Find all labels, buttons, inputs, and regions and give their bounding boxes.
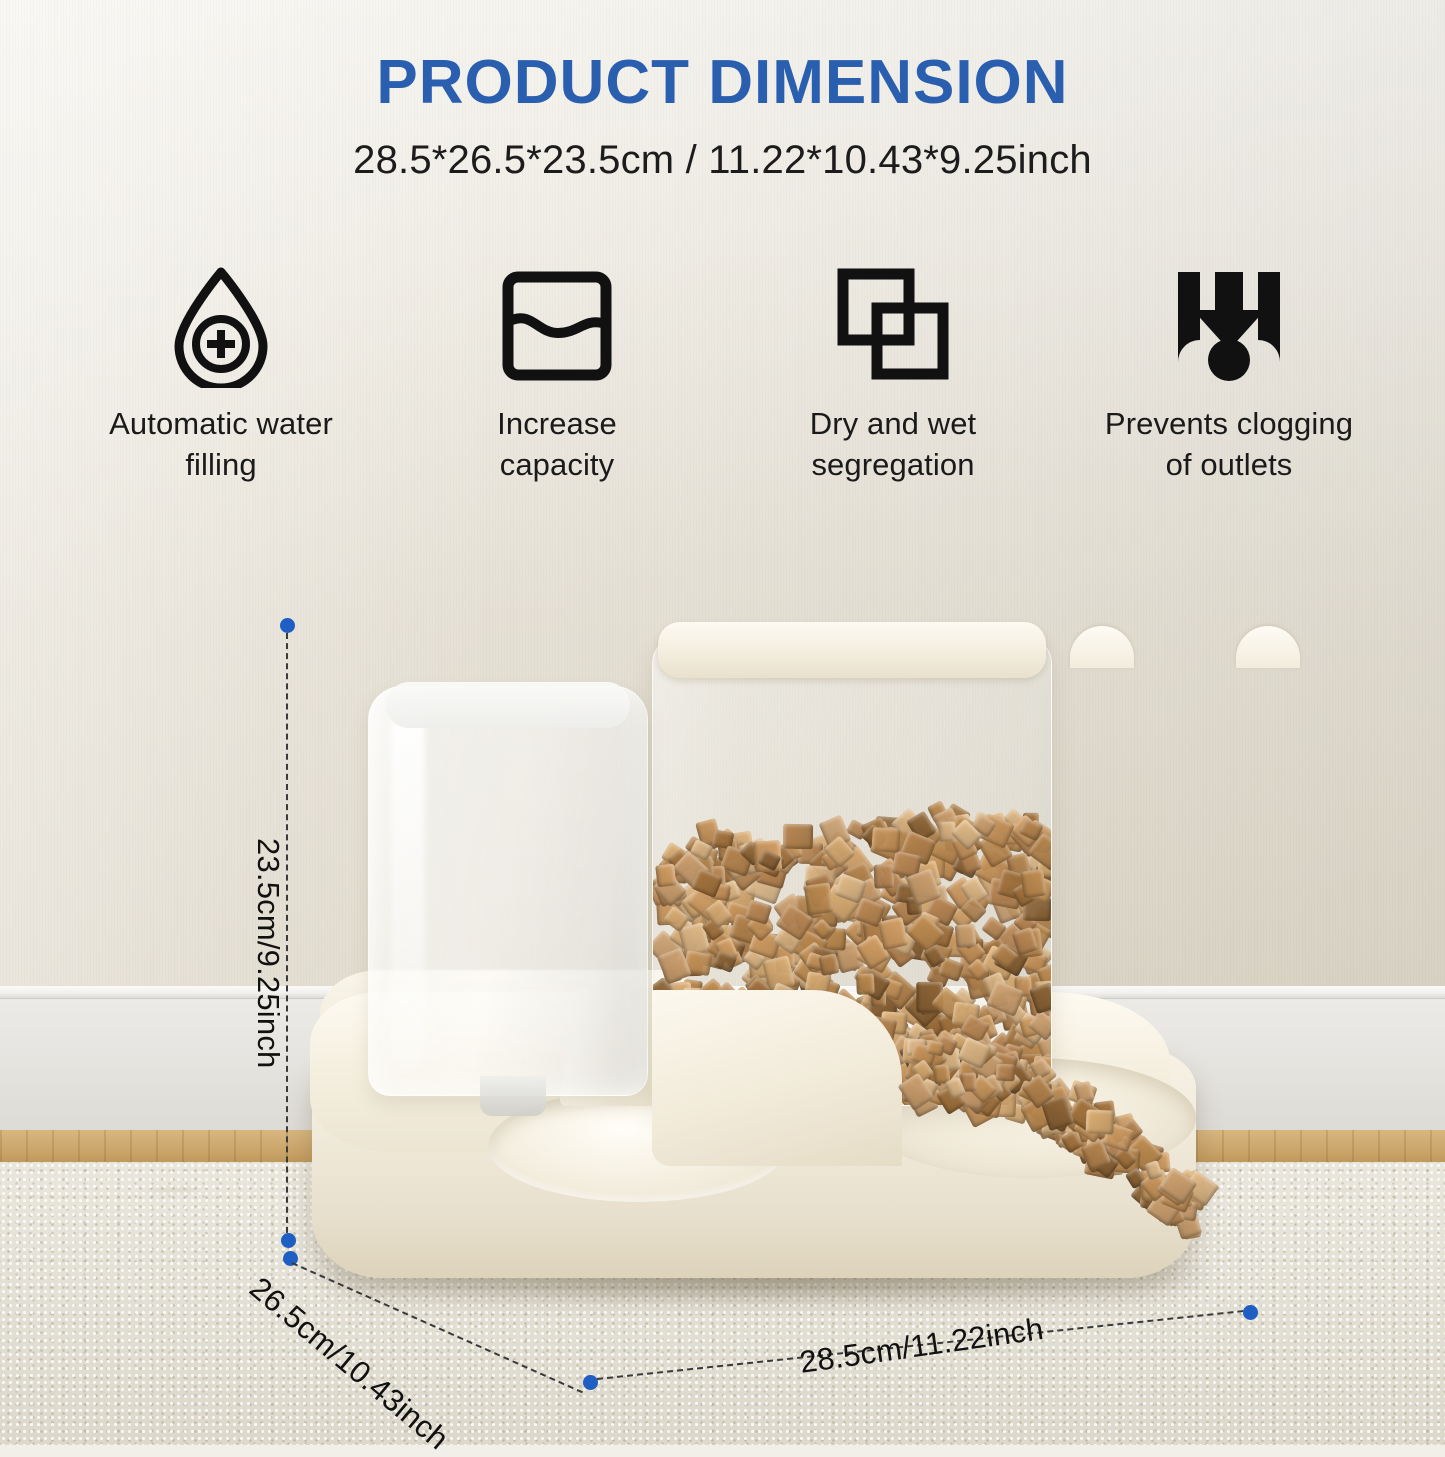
kibble-spill [900, 1020, 1200, 1210]
lid-tab-left [1070, 626, 1134, 668]
product-image [300, 590, 1220, 1290]
feature-label-line1: Prevents clogging [1105, 406, 1353, 441]
feature-increase-capacity: Increase capacity [396, 262, 718, 486]
infographic-canvas: PRODUCT DIMENSION 28.5*26.5*23.5cm / 11.… [0, 0, 1445, 1445]
feature-label: Automatic water filling [109, 404, 333, 486]
feature-row: Automatic water filling Increase capacit… [60, 262, 1390, 486]
feature-label: Increase capacity [497, 404, 617, 486]
hopper-lid [658, 622, 1046, 678]
feature-label: Prevents clogging of outlets [1105, 404, 1353, 486]
tank-outlet [480, 1076, 546, 1116]
dimension-line-height [286, 633, 288, 1243]
dimension-dot-height-top [280, 618, 295, 633]
feature-label-line2: capacity [500, 447, 615, 482]
water-drop-plus-icon [165, 262, 277, 390]
feature-label-line2: of outlets [1166, 447, 1293, 482]
dimension-dot-depth-end [583, 1375, 598, 1390]
dimension-label-height: 23.5cm/9.25inch [250, 838, 286, 1068]
header: PRODUCT DIMENSION 28.5*26.5*23.5cm / 11.… [0, 0, 1445, 183]
feature-prevents-clogging: Prevents clogging of outlets [1068, 262, 1390, 486]
page-subtitle: 28.5*26.5*23.5cm / 11.22*10.43*9.25inch [0, 114, 1445, 183]
dimension-dot-origin-upper [281, 1233, 296, 1248]
dimension-dot-width-end [1243, 1305, 1258, 1320]
tank-highlight [391, 711, 425, 1067]
page-title: PRODUCT DIMENSION [0, 0, 1445, 114]
feature-label-line1: Increase [497, 406, 617, 441]
feature-label-line2: segregation [811, 447, 974, 482]
feature-label-line1: Dry and wet [810, 406, 977, 441]
water-tank [368, 686, 648, 1096]
feature-label-line1: Automatic water [109, 406, 333, 441]
feature-label-line2: filling [185, 447, 256, 482]
feature-automatic-water-filling: Automatic water filling [60, 262, 382, 486]
feature-dry-wet-segregation: Dry and wet segregation [732, 262, 1054, 486]
container-level-icon [498, 262, 616, 390]
anti-clog-outlet-icon [1170, 262, 1288, 390]
tank-cap [386, 682, 630, 728]
food-chute [652, 990, 902, 1166]
feature-label: Dry and wet segregation [810, 404, 977, 486]
overlapping-squares-icon [831, 262, 955, 390]
